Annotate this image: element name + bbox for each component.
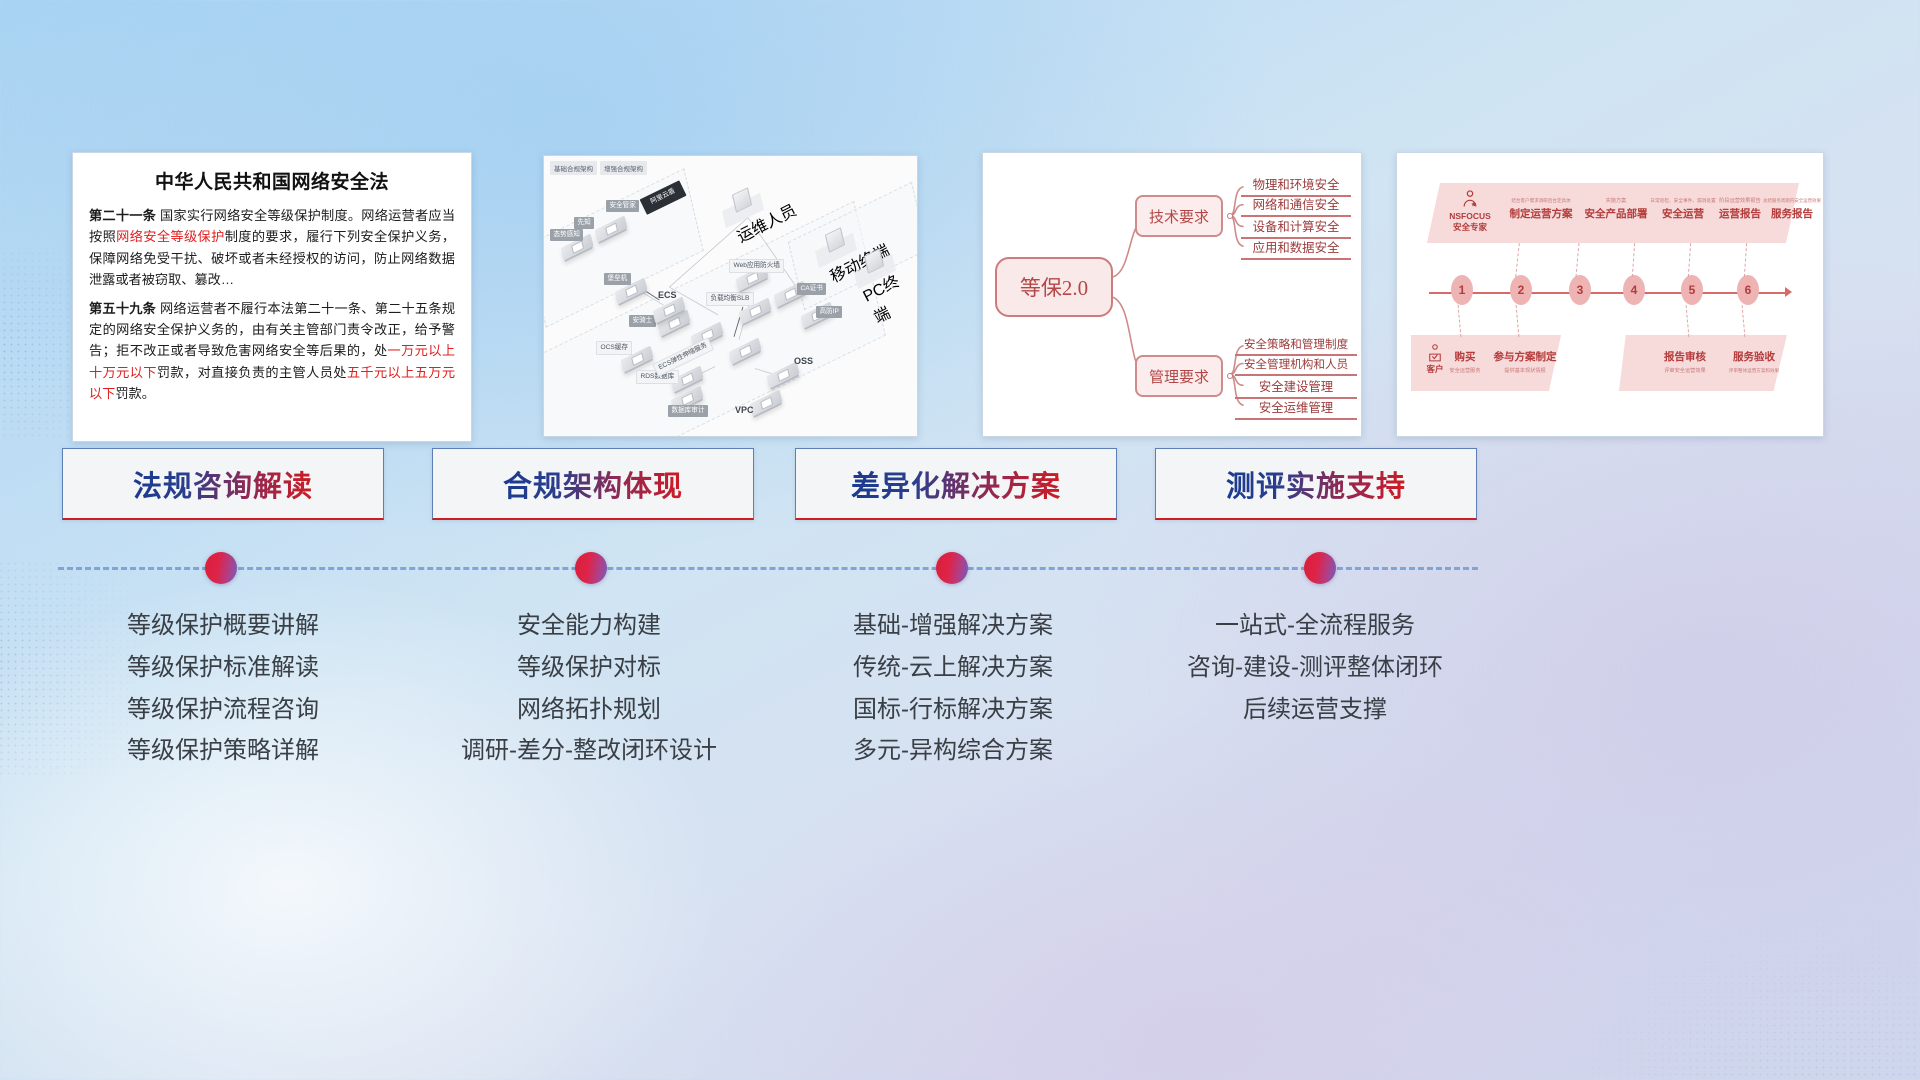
architecture-tab-enhanced[interactable]: 增强合规架构 [600, 161, 647, 175]
timeline-connector-top-3 [1576, 243, 1580, 277]
list-item: 等级保护对标 [424, 647, 754, 689]
mindmap-leaf-construction-mgmt: 安全建设管理 [1235, 377, 1357, 399]
list-item: 等级保护流程咨询 [58, 689, 388, 731]
mindmap-root: 等保2.0 [995, 257, 1113, 317]
timeline-connector-bottom-6 [1742, 305, 1746, 337]
law-article-21: 第二十一条 国家实行网络安全等级保护制度。网络运营者应当按照网络安全等级保护制度… [89, 205, 455, 291]
list-item: 国标-行标解决方案 [788, 689, 1118, 731]
list-item: 后续运营支撑 [1140, 689, 1490, 731]
timeline-bottom-step-6-sub: 评审整体运营方案和效果 [1720, 367, 1789, 373]
architecture-label-oss: OSS [794, 357, 813, 366]
architecture-label-db-audit: 数据库审计 [668, 405, 708, 417]
timeline-canvas: NSFOCUS 安全专家 结合客户需求调研后台定具体 制定运营方案 实施方案 安… [1397, 153, 1823, 436]
timeline-axis-arrow-icon [1785, 287, 1792, 297]
architecture-node-situational-awareness: 态势感知 [562, 240, 592, 254]
headline-box-regulation-consulting[interactable]: 法规咨询解读 [62, 448, 384, 520]
list-assessment-support: 一站式-全流程服务 咨询-建设-测评整体闭环 后续运营支撑 [1140, 605, 1490, 730]
architecture-node-ecs: ECS [654, 303, 684, 317]
timeline-node-dot-4[interactable] [1304, 552, 1336, 584]
architecture-node-slb: 负载均衡SLB [740, 304, 770, 318]
list-item: 等级保护概要讲解 [58, 605, 388, 647]
architecture-label-anqishi: 安骑士 [629, 315, 656, 327]
architecture-node-security-steward: 安全管家 [596, 222, 626, 236]
card-service-timeline: NSFOCUS 安全专家 结合客户需求调研后台定具体 制定运营方案 实施方案 安… [1396, 152, 1824, 437]
timeline-marker-5[interactable]: 5 [1681, 275, 1703, 305]
timeline-node-dot-1[interactable] [205, 552, 237, 584]
architecture-label-ca: CA证书 [797, 283, 826, 295]
list-differentiated-solutions: 基础-增强解决方案 传统-云上解决方案 国标-行标解决方案 多元-异构综合方案 [788, 605, 1118, 772]
mindmap-canvas: 等保2.0 技术要求 物理和环境安全 网络和通信安全 设备和计算安全 应用和数据… [983, 153, 1361, 436]
timeline-node-dot-3[interactable] [936, 552, 968, 584]
law-title: 中华人民共和国网络安全法 [89, 167, 455, 194]
timeline-bottom-step-1-title: 购买 [1441, 349, 1489, 364]
architecture-tabs: 基础合规架构 增强合规架构 [550, 161, 647, 175]
architecture-canvas: 基础合规架构 增强合规架构 [544, 156, 917, 436]
list-item: 调研-差分-整改闭环设计 [424, 730, 754, 772]
list-item: 一站式-全流程服务 [1140, 605, 1490, 647]
mindmap-leaf-device-compute: 设备和计算安全 [1241, 217, 1351, 239]
list-item: 网络拓扑规划 [424, 689, 754, 731]
timeline-top-step-3-title: 安全产品部署 [1579, 206, 1653, 221]
timeline-bottom-step-2-sub: 提供基本现状情报 [1485, 367, 1565, 374]
timeline-top-step-6-sub: 总结服务周期内安全运营效果 [1760, 197, 1824, 203]
headline-label-assessment-support: 测评实施支持 [1226, 463, 1406, 505]
mindmap-leaf-network-comm: 网络和通信安全 [1241, 195, 1351, 217]
architecture-node-pc: PC终端 [866, 251, 917, 319]
timeline-bottom-step-1: 购买 安全运营服务 [1441, 349, 1489, 376]
mindmap-leaf-policy-system: 安全策略和管理制度 [1235, 336, 1357, 356]
headline-label-differentiated-solutions: 差异化解决方案 [851, 463, 1061, 505]
law-body: 中华人民共和国网络安全法 第二十一条 国家实行网络安全等级保护制度。网络运营者应… [73, 153, 471, 421]
mindmap-collapse-dot-management[interactable] [1227, 373, 1233, 379]
architecture-node-waf: Web应用防火墙 [737, 271, 767, 285]
list-item: 等级保护标准解读 [58, 647, 388, 689]
architecture-node-rds: RDS数据库 [672, 372, 702, 386]
architecture-node-ops-staff: 运维人员 [734, 190, 798, 234]
timeline-connector-top-4 [1632, 243, 1635, 277]
timeline-marker-1[interactable]: 1 [1451, 275, 1473, 305]
mindmap-branch-management: 管理要求 [1135, 355, 1223, 397]
mindmap-leaf-app-data: 应用和数据安全 [1241, 238, 1351, 260]
list-item: 多元-异构综合方案 [788, 730, 1118, 772]
architecture-node-ecs-autoscale: ECS弹性伸缩服务 [692, 328, 722, 342]
timeline-bottom-step-6: 服务验收 评审整体运营方案和效果 [1715, 349, 1793, 376]
headline-box-differentiated-solutions[interactable]: 差异化解决方案 [795, 448, 1117, 520]
card-mindmap: 等保2.0 技术要求 物理和环境安全 网络和通信安全 设备和计算安全 应用和数据… [982, 152, 1362, 437]
list-regulation-consulting: 等级保护概要讲解 等级保护标准解读 等级保护流程咨询 等级保护策略详解 [58, 605, 388, 772]
architecture-node-ca: CA证书 [775, 287, 805, 301]
mindmap-leaf-physical-env: 物理和环境安全 [1241, 175, 1351, 197]
timeline-actor-expert: NSFOCUS 安全专家 [1439, 189, 1501, 232]
architecture-node-vpc: VPC [751, 396, 781, 410]
architecture-label-situational-awareness: 态势感知 [550, 229, 583, 241]
architecture-node-anti-ddos: 高防IP [802, 308, 832, 322]
headline-label-regulation-consulting: 法规咨询解读 [133, 463, 313, 505]
timeline-bottom-step-1-sub: 安全运营服务 [1441, 367, 1489, 374]
timeline-marker-4[interactable]: 4 [1623, 275, 1645, 305]
architecture-label-waf: Web应用防火墙 [729, 259, 784, 273]
mindmap-leaf-org-personnel: 安全管理机构和人员 [1235, 356, 1357, 376]
list-item: 安全能力构建 [424, 605, 754, 647]
list-item: 传统-云上解决方案 [788, 647, 1118, 689]
timeline-bottom-step-5-title: 报告审核 [1649, 349, 1721, 364]
architecture-label-bastion: 堡垒机 [604, 273, 631, 285]
list-item: 等级保护策略详解 [58, 730, 388, 772]
headline-label-compliance-architecture: 合规架构体现 [503, 463, 683, 505]
timeline-top-step-2: 结合客户需求调研后台定具体 制定运营方案 [1501, 197, 1581, 221]
timeline-expert-name-line2: 安全专家 [1439, 222, 1501, 233]
law-article-59-seg-2: 罚款，对直接负责的主管人员处 [157, 365, 347, 380]
timeline-dashed-line [58, 567, 1478, 570]
law-article-21-label: 第二十一条 [89, 208, 156, 223]
expert-person-icon [1460, 189, 1480, 209]
timeline-connector-top-6 [1744, 243, 1747, 277]
slide-stage: 中华人民共和国网络安全法 第二十一条 国家实行网络安全等级保护制度。网络运营者应… [0, 0, 1920, 1080]
architecture-label-security-steward: 安全管家 [606, 200, 639, 212]
timeline-bottom-step-2: 参与方案制定 提供基本现状情报 [1485, 349, 1565, 376]
timeline-bottom-step-6-title: 服务验收 [1715, 349, 1793, 364]
timeline-node-dot-2[interactable] [575, 552, 607, 584]
timeline-connector-top-2 [1515, 243, 1520, 277]
timeline-connector-bottom-2 [1516, 305, 1520, 337]
architecture-label-slb: 负载均衡SLB [706, 292, 754, 306]
architecture-label-vpc: VPC [735, 406, 754, 415]
list-item: 咨询-建设-测评整体闭环 [1140, 647, 1490, 689]
architecture-node-oss: OSS [768, 368, 798, 382]
card-architecture-diagram: 基础合规架构 增强合规架构 [543, 155, 918, 437]
timeline-connector-bottom-1 [1458, 305, 1462, 337]
headline-box-compliance-architecture[interactable]: 合规架构体现 [432, 448, 754, 520]
list-compliance-architecture: 安全能力构建 等级保护对标 网络拓扑规划 调研-差分-整改闭环设计 [424, 605, 754, 772]
timeline-marker-3[interactable]: 3 [1569, 275, 1591, 305]
timeline-connector-bottom-5 [1686, 305, 1690, 337]
architecture-node-db-audit: 数据库审计 [672, 392, 702, 406]
mindmap-collapse-dot-technical[interactable] [1227, 213, 1233, 219]
architecture-node-ocs: OCS缓存 [622, 352, 652, 366]
headline-box-assessment-support[interactable]: 测评实施支持 [1155, 448, 1477, 520]
law-article-59-seg-4: 罚款。 [115, 386, 155, 401]
architecture-tab-basic[interactable]: 基础合规架构 [550, 161, 597, 175]
timeline-bottom-step-5-sub: 评审安全运营效果 [1649, 367, 1721, 374]
architecture-label-ecs: ECS [658, 291, 677, 300]
timeline-top-step-6: 总结服务周期内安全运营效果 服务报告 [1755, 197, 1824, 221]
timeline-top-step-2-title: 制定运营方案 [1501, 206, 1581, 221]
architecture-node-ecs-extra [730, 344, 760, 358]
timeline-marker-2[interactable]: 2 [1510, 275, 1532, 305]
timeline-top-step-3: 实施方案 安全产品部署 [1579, 197, 1653, 221]
timeline-top-step-6-title: 服务报告 [1755, 206, 1824, 221]
timeline-top-step-2-sub: 结合客户需求调研后台定具体 [1506, 197, 1576, 203]
mindmap-branch-technical: 技术要求 [1135, 195, 1223, 237]
list-item: 基础-增强解决方案 [788, 605, 1118, 647]
law-article-59: 第五十九条 网络运营者不履行本法第二十一条、第二十五条规定的网络安全保护义务的，… [89, 298, 455, 405]
timeline-connector-top-5 [1688, 243, 1691, 277]
timeline-top-step-3-sub: 实施方案 [1579, 197, 1653, 204]
architecture-label-xianzhi: 先知 [574, 217, 594, 229]
timeline-marker-6[interactable]: 6 [1737, 275, 1759, 305]
timeline-bottom-step-5: 报告审核 评审安全运营效果 [1649, 349, 1721, 376]
architecture-node-bastion: 堡垒机 [616, 284, 646, 298]
card-law-document: 中华人民共和国网络安全法 第二十一条 国家实行网络安全等级保护制度。网络运营者应… [72, 152, 472, 442]
law-article-59-label: 第五十九条 [89, 301, 156, 316]
timeline-expert-name-line1: NSFOCUS [1439, 211, 1501, 222]
timeline-axis [1429, 292, 1787, 294]
timeline-bottom-step-2-title: 参与方案制定 [1485, 349, 1565, 364]
law-article-21-seg-1: 网络安全等级保护 [116, 229, 225, 244]
mindmap-leaf-ops-mgmt: 安全运维管理 [1235, 398, 1357, 420]
architecture-label-ocs: OCS缓存 [596, 341, 632, 355]
architecture-label-anti-ddos: 高防IP [816, 306, 842, 318]
